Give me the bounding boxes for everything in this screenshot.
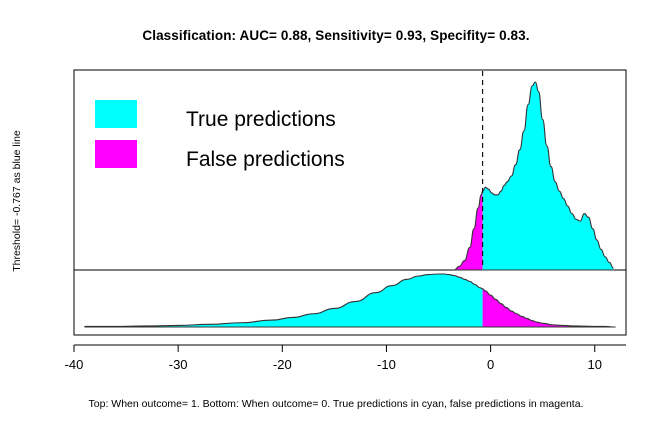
x-tick-label: 10	[588, 357, 602, 372]
legend-swatch-false	[95, 140, 137, 168]
chart-root: Classification: AUC= 0.88, Sensitivity= …	[0, 0, 672, 432]
x-tick-label: -10	[377, 357, 396, 372]
legend-label-true: True predictions	[186, 108, 336, 131]
x-axis-ticks: -40-30-20-10010	[65, 345, 602, 372]
legend-swatch-true	[95, 100, 137, 128]
density-plot: -40-30-20-10010 True predictions False p…	[0, 0, 672, 432]
x-tick-label: -40	[65, 357, 84, 372]
x-tick-label: 0	[487, 357, 494, 372]
x-tick-label: -30	[169, 357, 188, 372]
legend-label-false: False predictions	[186, 148, 345, 171]
x-tick-label: -20	[273, 357, 292, 372]
